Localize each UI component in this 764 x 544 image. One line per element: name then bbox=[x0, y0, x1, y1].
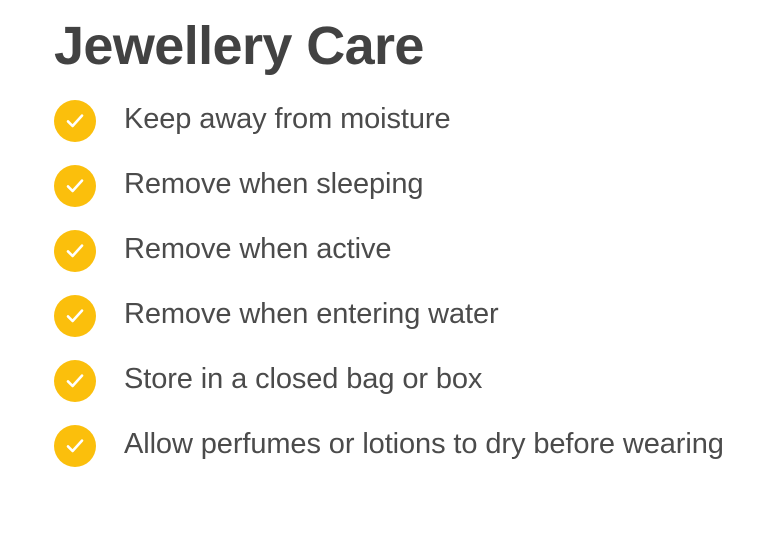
list-item: Keep away from moisture bbox=[54, 99, 744, 142]
check-circle-icon bbox=[54, 295, 96, 337]
list-item-label: Remove when active bbox=[124, 229, 724, 269]
list-item: Remove when sleeping bbox=[54, 164, 744, 207]
check-circle-icon bbox=[54, 100, 96, 142]
list-item-label: Allow perfumes or lotions to dry before … bbox=[124, 424, 724, 464]
jewellery-care-panel: Jewellery Care Keep away from moisture R… bbox=[0, 0, 764, 544]
list-item: Remove when entering water bbox=[54, 294, 744, 337]
page-title: Jewellery Care bbox=[54, 16, 424, 76]
list-item-label: Remove when entering water bbox=[124, 294, 724, 334]
list-item: Allow perfumes or lotions to dry before … bbox=[54, 424, 744, 467]
list-item: Remove when active bbox=[54, 229, 744, 272]
care-instruction-list: Keep away from moisture Remove when slee… bbox=[54, 99, 744, 467]
list-item-label: Store in a closed bag or box bbox=[124, 359, 724, 399]
check-circle-icon bbox=[54, 360, 96, 402]
check-circle-icon bbox=[54, 230, 96, 272]
check-circle-icon bbox=[54, 425, 96, 467]
list-item-label: Remove when sleeping bbox=[124, 164, 724, 204]
list-item: Store in a closed bag or box bbox=[54, 359, 744, 402]
list-item-label: Keep away from moisture bbox=[124, 99, 724, 139]
check-circle-icon bbox=[54, 165, 96, 207]
